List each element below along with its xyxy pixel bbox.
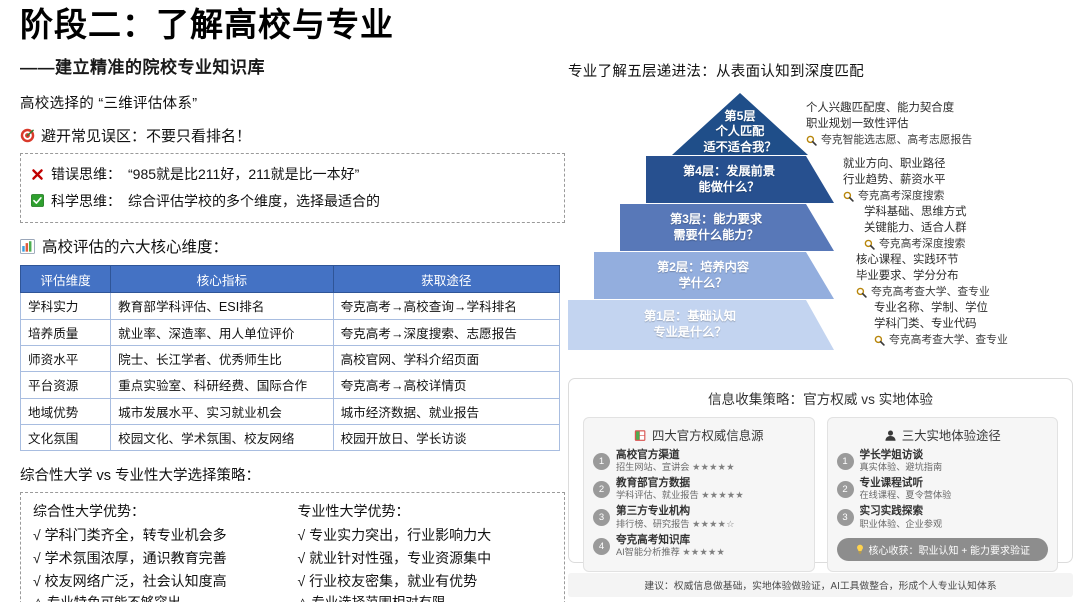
- annotation-2-source-row: 夸克高考查大学、查专业: [856, 285, 990, 300]
- item-number: 1: [593, 453, 610, 470]
- official-sources-heading-text: 四大官方权威信息源: [652, 426, 764, 444]
- search-tool-icon: [874, 335, 885, 346]
- pyramid-level-3-question: 需要什么能力？: [670, 228, 762, 244]
- bar-chart-icon: [20, 239, 35, 254]
- info-strategy-panel: 信息收集策略：官方权威 vs 实地体验 四大官方权威信息源: [568, 378, 1073, 563]
- col-header-source: 获取途径: [333, 266, 559, 293]
- list-item: 2 教育部官方数据 学科评估、就业报告 ★★★★★: [593, 477, 805, 502]
- cell-source: 城市经济数据、就业报告: [333, 398, 559, 424]
- comparison-left-pro: √ 学术氛围浓厚，通识教育完善: [33, 547, 288, 570]
- table-row: 文化氛围 校园文化、学术氛围、校友网络 校园开放日、学长访谈: [21, 425, 560, 451]
- cell-indicator: 校园文化、学术氛围、校友网络: [111, 425, 333, 451]
- vs-heading: 综合性大学 vs 专业性大学选择策略：: [20, 464, 565, 485]
- table-row: 培养质量 就业率、深造率、用人单位评价 夸克高考→深度搜索、志愿报告: [21, 319, 560, 345]
- lead-line: 高校选择的 “三维评估体系”: [20, 92, 565, 113]
- field-experience-heading: 三大实地体验途径: [837, 426, 1049, 444]
- list-item: 2 专业课程试听 在线课程、夏令营体验: [837, 477, 1049, 502]
- misconception-heading: 避开常见误区：不要只看排名！: [20, 125, 565, 146]
- table-header-row: 评估维度 核心指标 获取途径: [21, 266, 560, 293]
- cell-dimension: 平台资源: [21, 372, 111, 398]
- annotation-5-line-2: 职业规划一致性评估: [806, 117, 972, 133]
- item-number: 4: [593, 538, 610, 555]
- comparison-right-pro: √ 专业实力突出，行业影响力大: [298, 524, 553, 547]
- table-row: 学科实力 教育部学科评估、ESI排名 夸克高考→高校查询→学科排名: [21, 293, 560, 319]
- bulb-icon: [855, 544, 865, 554]
- rating-stars: ★★★★★: [701, 490, 744, 500]
- annotation-3-line-2: 关键能力、适合人群: [864, 221, 967, 237]
- item-desc: 职业体验、企业参观: [860, 519, 943, 531]
- annotation-2-line-2: 毕业要求、学分分布: [856, 269, 990, 285]
- pyramid-level-3: 第3层：能力要求 需要什么能力？: [620, 204, 834, 251]
- rating-stars: ★★★★★: [682, 547, 725, 557]
- cell-indicator: 院士、长江学者、优秀师生比: [111, 345, 333, 371]
- comparison-box: 综合性大学优势： √ 学科门类齐全，转专业机会多 √ 学术氛围浓厚，通识教育完善…: [20, 492, 565, 602]
- pyramid-level-4: 第4层：发展前景 能做什么？: [646, 156, 834, 203]
- comparison-left-pro: √ 校友网络广泛，社会认知度高: [33, 570, 288, 593]
- cell-indicator: 重点实验室、科研经费、国际合作: [111, 372, 333, 398]
- comparison-left-caution: △ 专业特色可能不够突出: [33, 592, 288, 602]
- annotation-2-line-1: 核心课程、实践环节: [856, 253, 990, 269]
- item-number: 3: [593, 509, 610, 526]
- pyramid-level-4-question: 能做什么？: [683, 180, 775, 196]
- pyramid-level-1-name: 第1层：基础认知: [644, 309, 736, 325]
- red-cross-icon: [31, 168, 44, 181]
- item-title: 教育部官方数据: [616, 477, 744, 490]
- pyramid-annotation-5: 个人兴趣匹配度、能力契合度 职业规划一致性评估 夸克智能选志愿、高考志愿报告: [806, 101, 972, 148]
- comparison-right-pro: √ 就业针对性强，专业资源集中: [298, 547, 553, 570]
- left-column: 阶段二：了解高校与专业 ——建立精准的院校专业知识库 高校选择的 “三维评估体系…: [20, 6, 565, 602]
- person-icon: [884, 429, 897, 442]
- list-item: 3 第三方专业机构 排行榜、研究报告 ★★★★☆: [593, 505, 805, 530]
- item-desc: 在线课程、夏令营体验: [860, 490, 952, 502]
- comparison-right: 专业性大学优势： √ 专业实力突出，行业影响力大 √ 就业针对性强，专业资源集中…: [298, 501, 553, 602]
- thinking-wrong-text: “985就是比211好，211就是比一本好”: [128, 161, 359, 188]
- item-desc: 真实体验、避坑指南: [860, 462, 943, 474]
- page-title: 阶段二：了解高校与专业: [20, 6, 565, 44]
- annotation-1-source: 夸克高考查大学、查专业: [889, 333, 1008, 348]
- footer-recommendation: 建议：权威信息做基础，实地体验做验证，AI工具做整合，形成个人专业认知体系: [568, 573, 1073, 597]
- thinking-right-text: 综合评估学校的多个维度，选择最适合的: [128, 188, 380, 215]
- cell-indicator: 教育部学科评估、ESI排名: [111, 293, 333, 319]
- item-desc: 排行榜、研究报告: [616, 519, 690, 529]
- annotation-5-source: 夸克智能选志愿、高考志愿报告: [821, 133, 972, 148]
- pyramid-level-1: 第1层：基础认知 专业是什么？: [568, 300, 834, 350]
- pyramid-annotation-1: 专业名称、学制、学位 学科门类、专业代码 夸克高考查大学、查专业: [874, 301, 1008, 348]
- comparison-left-pro: √ 学科门类齐全，转专业机会多: [33, 524, 288, 547]
- cell-source: 高校官网、学科介绍页面: [333, 345, 559, 371]
- thinking-row-wrong: 错误思维： “985就是比211好，211就是比一本好”: [31, 161, 554, 188]
- pyramid-level-1-question: 专业是什么？: [644, 325, 736, 341]
- cell-source: 夸克高考→深度搜索、志愿报告: [333, 319, 559, 345]
- search-tool-icon: [843, 191, 854, 202]
- list-item: 1 高校官方渠道 招生网站、宣讲会 ★★★★★: [593, 449, 805, 474]
- info-panel-title: 信息收集策略：官方权威 vs 实地体验: [569, 388, 1072, 408]
- annotation-5-line-1: 个人兴趣匹配度、能力契合度: [806, 101, 972, 117]
- thinking-right-label: 科学思维：: [51, 188, 121, 215]
- table-row: 地域优势 城市发展水平、实习就业机会 城市经济数据、就业报告: [21, 398, 560, 424]
- field-experience-card: 三大实地体验途径 1 学长学姐访谈 真实体验、避坑指南 2 专业课程试听 在线课…: [827, 417, 1059, 572]
- footer-text: 建议：权威信息做基础，实地体验做验证，AI工具做整合，形成个人专业认知体系: [644, 578, 996, 592]
- official-sources-card: 四大官方权威信息源 1 高校官方渠道 招生网站、宣讲会 ★★★★★ 2 教育部官…: [583, 417, 815, 572]
- cell-dimension: 地域优势: [21, 398, 111, 424]
- pyramid-level-5-question: 适不适合我？: [703, 140, 776, 156]
- annotation-4-source: 夸克高考深度搜索: [858, 189, 944, 204]
- annotation-3-line-1: 学科基础、思维方式: [864, 205, 967, 221]
- cell-dimension: 师资水平: [21, 345, 111, 371]
- list-item: 3 实习实践探索 职业体验、企业参观: [837, 505, 1049, 530]
- target-icon: [20, 128, 35, 143]
- comparison-right-title: 专业性大学优势：: [298, 501, 553, 521]
- item-title: 第三方专业机构: [616, 505, 735, 518]
- list-item: 4 夸克高考知识库 AI智能分析推荐 ★★★★★: [593, 534, 805, 559]
- item-title: 专业课程试听: [860, 477, 952, 490]
- item-title: 高校官方渠道: [616, 449, 735, 462]
- item-title: 夸克高考知识库: [616, 534, 725, 547]
- comparison-right-pro: √ 行业校友密集，就业有优势: [298, 570, 553, 593]
- col-header-indicator: 核心指标: [111, 266, 333, 293]
- cell-dimension: 学科实力: [21, 293, 111, 319]
- annotation-1-line-1: 专业名称、学制、学位: [874, 301, 1008, 317]
- list-item: 1 学长学姐访谈 真实体验、避坑指南: [837, 449, 1049, 474]
- pyramid-level-5-name: 第5层: [703, 109, 776, 125]
- page-subtitle: ——建立精准的院校专业知识库: [20, 53, 565, 78]
- slide-root: 阶段二：了解高校与专业 ——建立精准的院校专业知识库 高校选择的 “三维评估体系…: [0, 0, 1080, 602]
- right-column: 专业了解五层递进法：从表面认知到深度匹配 第5层 个人匹配 适不适合我？: [568, 60, 1073, 393]
- cell-source: 夸克高考→高校查询→学科排名: [333, 293, 559, 319]
- item-number: 1: [837, 453, 854, 470]
- field-experience-heading-text: 三大实地体验途径: [902, 426, 1001, 444]
- col-header-dimension: 评估维度: [21, 266, 111, 293]
- item-desc: AI智能分析推荐: [616, 547, 680, 557]
- item-desc: 学科评估、就业报告: [616, 490, 699, 500]
- thinking-wrong-label: 错误思维：: [51, 161, 121, 188]
- annotation-2-source: 夸克高考查大学、查专业: [871, 285, 990, 300]
- cell-source: 夸克高考→高校详情页: [333, 372, 559, 398]
- comparison-right-caution: △ 专业选择范围相对有限: [298, 592, 553, 602]
- table-row: 师资水平 院士、长江学者、优秀师生比 高校官网、学科介绍页面: [21, 345, 560, 371]
- cell-dimension: 文化氛围: [21, 425, 111, 451]
- cell-dimension: 培养质量: [21, 319, 111, 345]
- thinking-box: 错误思维： “985就是比211好，211就是比一本好” 科学思维： 综合评估学…: [20, 153, 565, 223]
- item-number: 2: [837, 481, 854, 498]
- rating-stars: ★★★★☆: [692, 519, 735, 529]
- pyramid-annotation-4: 就业方向、职业路径 行业趋势、薪资水平 夸克高考深度搜索: [843, 157, 946, 204]
- pyramid-level-3-name: 第3层：能力要求: [670, 212, 762, 228]
- core-takeaway-pill: 核心收获：职业认知 + 能力要求验证: [837, 538, 1049, 561]
- item-desc: 招生网站、宣讲会: [616, 462, 690, 472]
- pyramid-annotation-3: 学科基础、思维方式 关键能力、适合人群 夸克高考深度搜索: [864, 205, 967, 252]
- annotation-4-source-row: 夸克高考深度搜索: [843, 189, 946, 204]
- core-takeaway-text: 核心收获：职业认知 + 能力要求验证: [869, 542, 1030, 557]
- pyramid-level-5-name2: 个人匹配: [703, 124, 776, 140]
- thinking-row-right: 科学思维： 综合评估学校的多个维度，选择最适合的: [31, 188, 554, 215]
- table-row: 平台资源 重点实验室、科研经费、国际合作 夸克高考→高校详情页: [21, 372, 560, 398]
- rating-stars: ★★★★★: [692, 462, 735, 472]
- item-title: 学长学姐访谈: [860, 449, 943, 462]
- cell-source: 校园开放日、学长访谈: [333, 425, 559, 451]
- item-number: 2: [593, 481, 610, 498]
- dimensions-table: 评估维度 核心指标 获取途径 学科实力 教育部学科评估、ESI排名 夸克高考→高…: [20, 265, 560, 451]
- cell-indicator: 城市发展水平、实习就业机会: [111, 398, 333, 424]
- info-cards: 四大官方权威信息源 1 高校官方渠道 招生网站、宣讲会 ★★★★★ 2 教育部官…: [569, 408, 1072, 572]
- pyramid-level-4-name: 第4层：发展前景: [683, 164, 775, 180]
- six-dimensions-heading: 高校评估的六大核心维度：: [20, 235, 565, 257]
- books-icon: [634, 429, 647, 442]
- cell-indicator: 就业率、深造率、用人单位评价: [111, 319, 333, 345]
- pyramid-diagram: 第5层 个人匹配 适不适合我？ 第4层：发展前景 能做什么？: [568, 93, 1073, 393]
- six-dimensions-text: 高校评估的六大核心维度：: [42, 235, 228, 257]
- annotation-3-source: 夸克高考深度搜索: [879, 237, 965, 252]
- annotation-1-line-2: 学科门类、专业代码: [874, 317, 1008, 333]
- pyramid-title: 专业了解五层递进法：从表面认知到深度匹配: [568, 60, 1073, 81]
- search-tool-icon: [856, 287, 867, 298]
- misconception-text: 避开常见误区：不要只看排名！: [41, 125, 251, 146]
- pyramid-level-2-name: 第2层：培养内容: [657, 260, 749, 276]
- green-check-icon: [31, 194, 44, 207]
- comparison-left-title: 综合性大学优势：: [33, 501, 288, 521]
- official-sources-heading: 四大官方权威信息源: [593, 426, 805, 444]
- comparison-left: 综合性大学优势： √ 学科门类齐全，转专业机会多 √ 学术氛围浓厚，通识教育完善…: [33, 501, 288, 602]
- annotation-4-line-2: 行业趋势、薪资水平: [843, 173, 946, 189]
- annotation-4-line-1: 就业方向、职业路径: [843, 157, 946, 173]
- pyramid-level-5: 第5层 个人匹配 适不适合我？: [672, 93, 808, 155]
- annotation-5-source-row: 夸克智能选志愿、高考志愿报告: [806, 133, 972, 148]
- annotation-3-source-row: 夸克高考深度搜索: [864, 237, 967, 252]
- pyramid-level-2: 第2层：培养内容 学什么？: [594, 252, 834, 299]
- item-title: 实习实践探索: [860, 505, 943, 518]
- search-tool-icon: [806, 135, 817, 146]
- search-tool-icon: [864, 239, 875, 250]
- pyramid-annotation-2: 核心课程、实践环节 毕业要求、学分分布 夸克高考查大学、查专业: [856, 253, 990, 300]
- annotation-1-source-row: 夸克高考查大学、查专业: [874, 333, 1008, 348]
- pyramid-level-2-question: 学什么？: [657, 276, 749, 292]
- item-number: 3: [837, 509, 854, 526]
